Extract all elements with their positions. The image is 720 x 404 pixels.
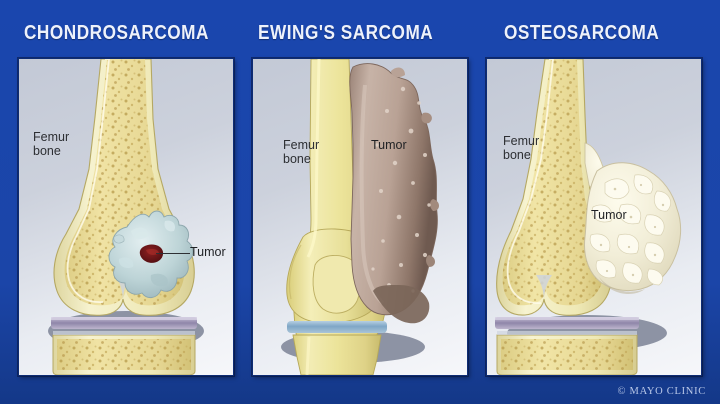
illustration-panel-ewings-sarcoma: Femur bone Tumor [252, 58, 468, 376]
knee-joint-cross-section [51, 317, 197, 375]
label-femur-bone: Femur bone [503, 135, 539, 162]
label-femur-bone: Femur bone [33, 131, 69, 158]
tumor-leader-line [156, 253, 190, 254]
ewings-sarcoma-diagram [253, 59, 467, 375]
panel-title-osteosarcoma: OSTEOSARCOMA [504, 22, 659, 45]
label-tumor-osteosarcoma: Tumor [591, 209, 627, 223]
label-tumor-chondrosarcoma: Tumor [190, 246, 226, 260]
label-tumor-ewings: Tumor [371, 139, 407, 153]
panel-title-chondrosarcoma: CHONDROSARCOMA [24, 22, 209, 45]
chondrosarcoma-diagram [19, 59, 233, 375]
tumor-mass-ewings [350, 64, 439, 324]
copyright-notice: © MAYO CLINIC [618, 386, 706, 397]
tumor-callout-chondrosarcoma: Tumor [156, 246, 236, 262]
label-femur-bone: Femur bone [283, 139, 319, 166]
panel-titles: CHONDROSARCOMA EWING'S SARCOMA OSTEOSARC… [0, 22, 720, 52]
knee-joint-cross-section [495, 317, 639, 375]
panel-title-ewings-sarcoma: EWING'S SARCOMA [258, 22, 433, 45]
illustration-panel-osteosarcoma: Femur bone Tumor [486, 58, 702, 376]
illustration-panel-chondrosarcoma: Femur bone [18, 58, 234, 376]
